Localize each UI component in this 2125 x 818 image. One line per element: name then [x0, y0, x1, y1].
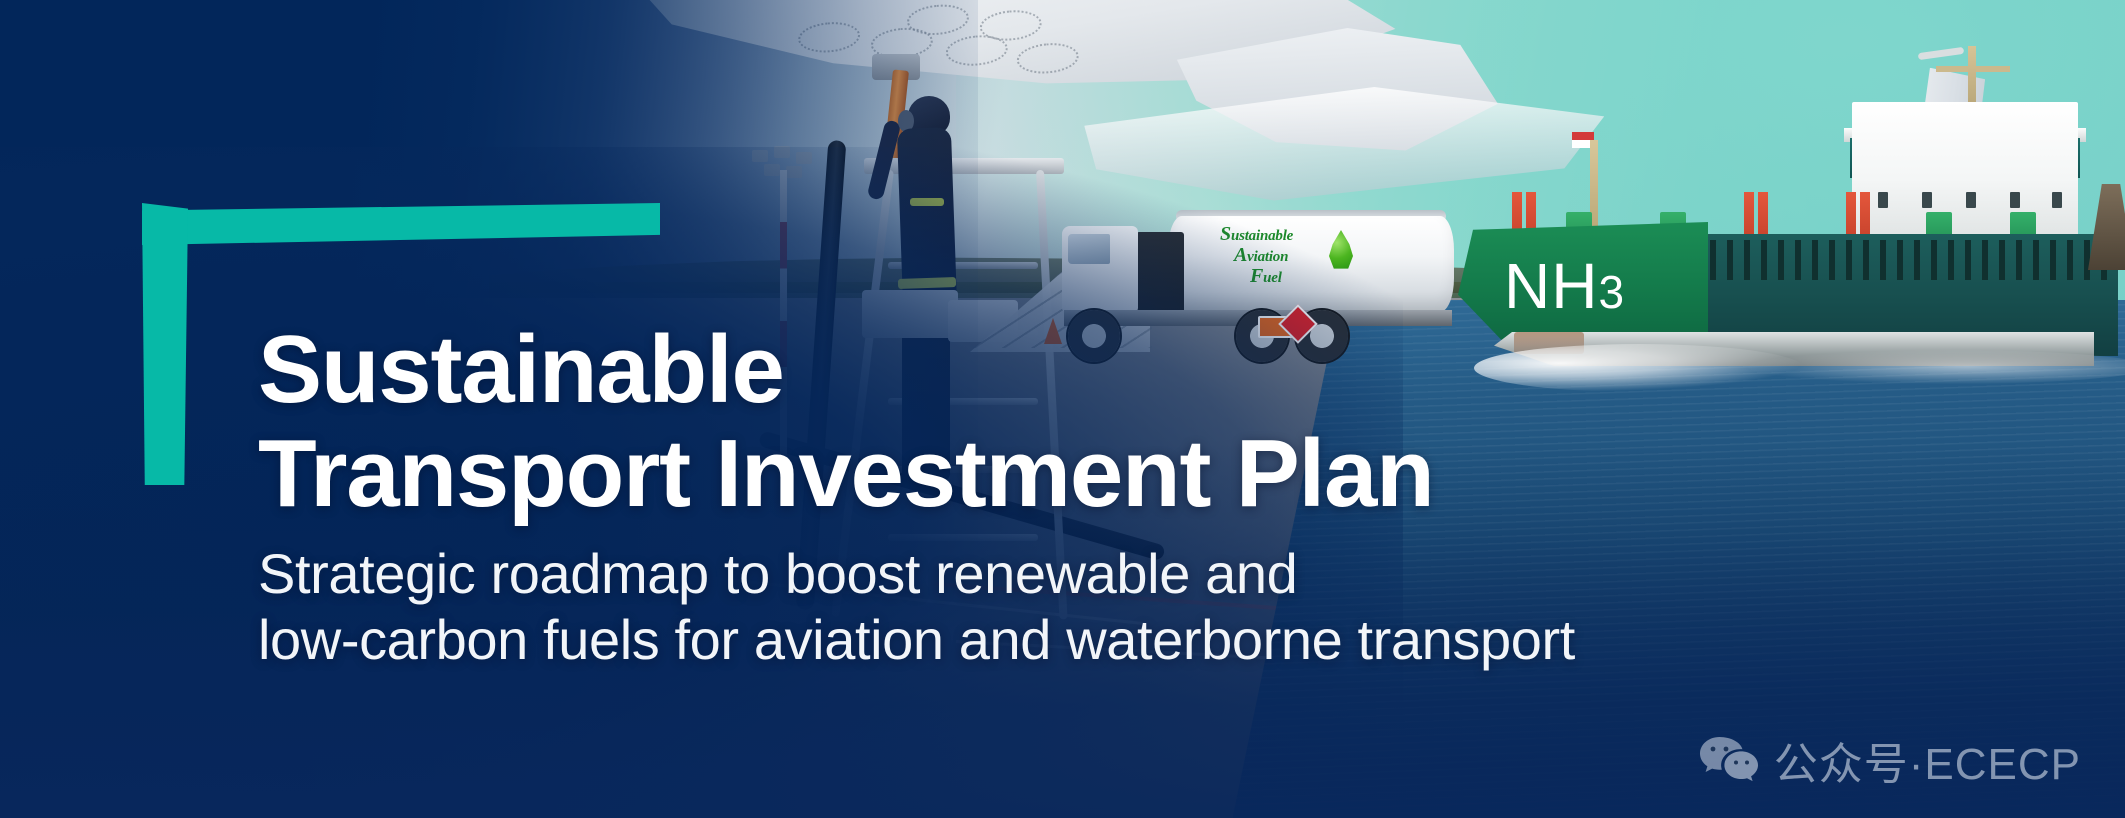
stern-wake [1748, 350, 2125, 384]
ship-superstructure [1852, 102, 2078, 242]
title-line-2: Transport Investment Plan [258, 422, 1658, 526]
accommodation-window [1922, 192, 1932, 208]
title-line-1: Sustainable [258, 318, 1658, 422]
nh3-letters: NH [1504, 250, 1598, 322]
nh3-subscript: 3 [1598, 266, 1625, 318]
ship-nh3-marking: NH3 [1504, 254, 1625, 318]
wechat-icon [1698, 735, 1760, 785]
page-subtitle: Strategic roadmap to boost renewable and… [258, 541, 1658, 672]
banner-copy-block: Sustainable Transport Investment Plan St… [258, 318, 1658, 672]
cargo-deck-railing [1710, 240, 2110, 280]
accommodation-window [1878, 192, 1888, 208]
ship-crane [2088, 184, 2125, 270]
watermark-text: 公众号·ECECP [1774, 728, 2081, 792]
accommodation-window [2010, 192, 2020, 208]
sustainable-transport-banner: Sustainable Aviation Fuel [0, 0, 2125, 818]
ship-radar-scanner [1918, 47, 1965, 60]
accommodation-window [2052, 192, 2062, 208]
accommodation-window [1966, 192, 1976, 208]
page-title: Sustainable Transport Investment Plan [258, 318, 1658, 525]
subtitle-line-1: Strategic roadmap to boost renewable and [258, 541, 1658, 607]
wechat-watermark: 公众号·ECECP [1698, 728, 2081, 792]
subtitle-line-2: low-carbon fuels for aviation and waterb… [258, 607, 1658, 673]
